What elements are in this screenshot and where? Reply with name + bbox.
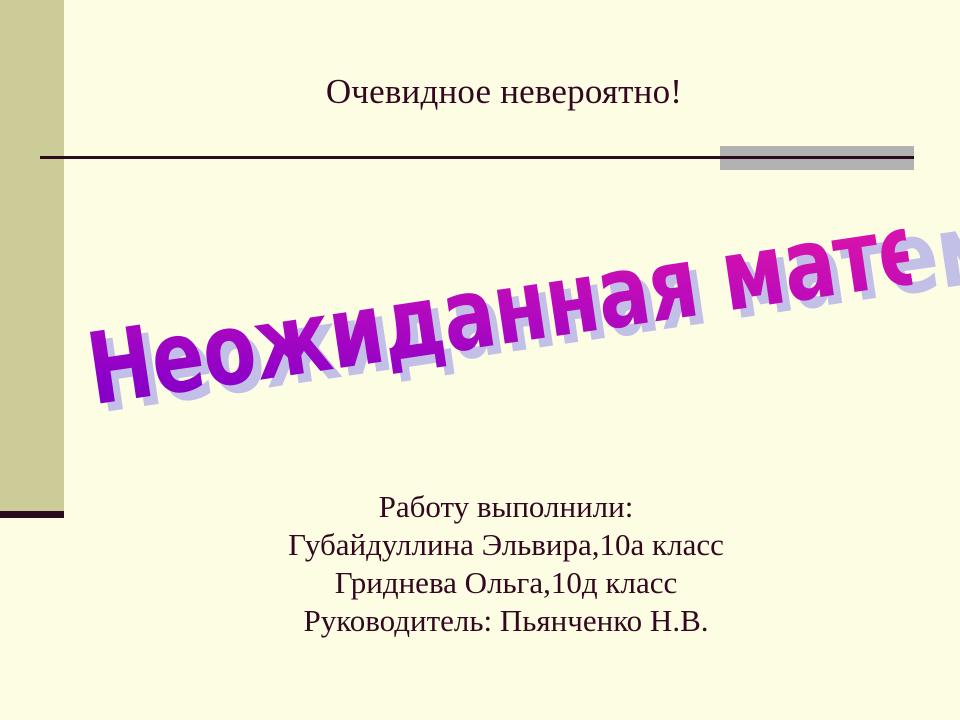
byline-line: Гриднева Ольга,10д класс [64, 564, 948, 602]
byline-block: Работу выполнили: Губайдуллина Эльвира,1… [64, 488, 948, 640]
wordart-title-inner: Неожиданная математика Неожиданная матем… [44, 185, 952, 435]
slide-title: Очевидное невероятно! [64, 70, 944, 114]
decorative-left-band-cap [0, 511, 64, 518]
wordart-title: Неожиданная математика Неожиданная матем… [0, 228, 960, 418]
byline-line: Губайдуллина Эльвира,10а класс [64, 526, 948, 564]
byline-line: Работу выполнили: [64, 488, 948, 526]
title-divider-rule [40, 156, 914, 159]
presentation-slide: Очевидное невероятно! Неожиданная матема… [0, 0, 960, 720]
wordart-text-layer: Неожиданная математика [78, 179, 918, 440]
byline-line: Руководитель: Пьянченко Н.В. [64, 602, 948, 640]
